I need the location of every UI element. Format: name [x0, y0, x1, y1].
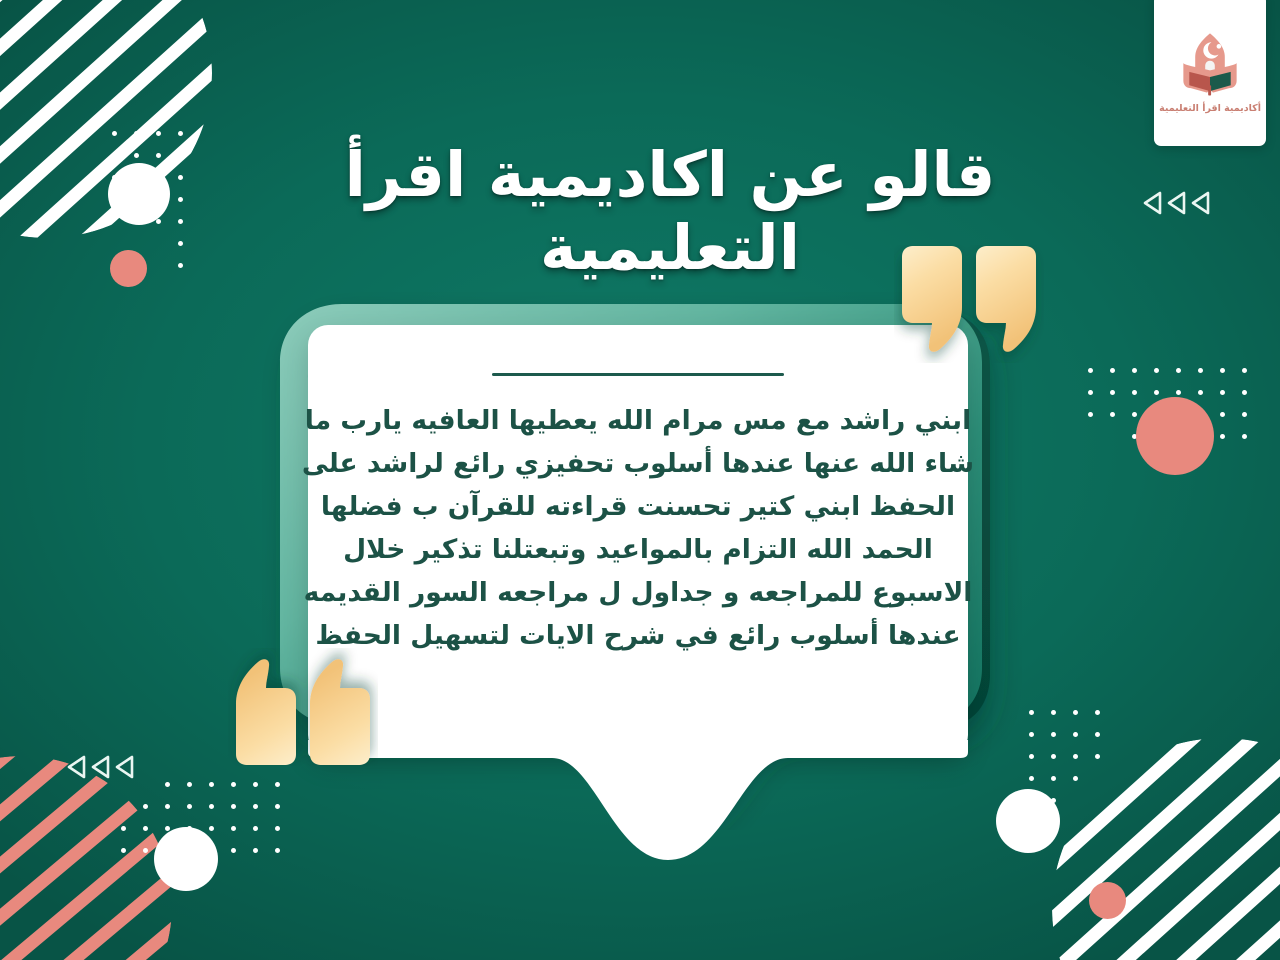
poster-canvas: قالو عن اكاديمية اقرأ التعليمية أكاديمية…: [0, 0, 1280, 960]
testimonial-card: ابني راشد مع مس مرام الله يعطيها العافيه…: [308, 325, 968, 755]
stripe-fan-bottom-left: [0, 756, 172, 960]
testimonial-card-inner: ابني راشد مع مس مرام الله يعطيها العافيه…: [308, 325, 968, 755]
speech-bubble-tail: [308, 740, 968, 870]
logo-brand-text: أكاديمية اقرأ التعليمية: [1159, 103, 1261, 114]
dot-grid-right: [1071, 368, 1247, 456]
testimonial-text: ابني راشد مع مس مرام الله يعطيها العافيه…: [302, 400, 974, 658]
academy-logo-badge: أكاديمية اقرأ التعليمية: [1154, 0, 1266, 146]
testimonial-line: ابني راشد مع مس مرام الله يعطيها العافيه…: [302, 400, 974, 443]
top-divider: [492, 373, 784, 376]
testimonial-line: شاء الله عنها عندها أسلوب تحفيزي رائع لر…: [302, 443, 974, 486]
stripe-fan-bottom-right: [1052, 738, 1280, 960]
star-icon: [1217, 44, 1222, 49]
testimonial-card-group: ابني راشد مع مس مرام الله يعطيها العافيه…: [232, 270, 1042, 830]
testimonial-line: الحمد الله التزام بالمواعيد وتبعتلنا تذك…: [302, 529, 974, 572]
circle-white-bottom-left: [154, 827, 218, 891]
circle-salmon-bottom-right: [1089, 882, 1126, 919]
circle-salmon-right: [1136, 397, 1214, 475]
testimonial-line: الحفظ ابني كتير تحسنت قراءته للقرآن ب فض…: [302, 486, 974, 529]
page-title: قالو عن اكاديمية اقرأ التعليمية: [0, 138, 1280, 284]
open-book-icon: [1173, 26, 1247, 100]
arrow-triangles-bottom-left: [65, 754, 139, 780]
testimonial-line: الاسبوع للمراجعه و جداول ل مراجعه السور …: [302, 572, 974, 615]
testimonial-line: عندها أسلوب رائع في شرح الايات لتسهيل ال…: [302, 615, 974, 658]
